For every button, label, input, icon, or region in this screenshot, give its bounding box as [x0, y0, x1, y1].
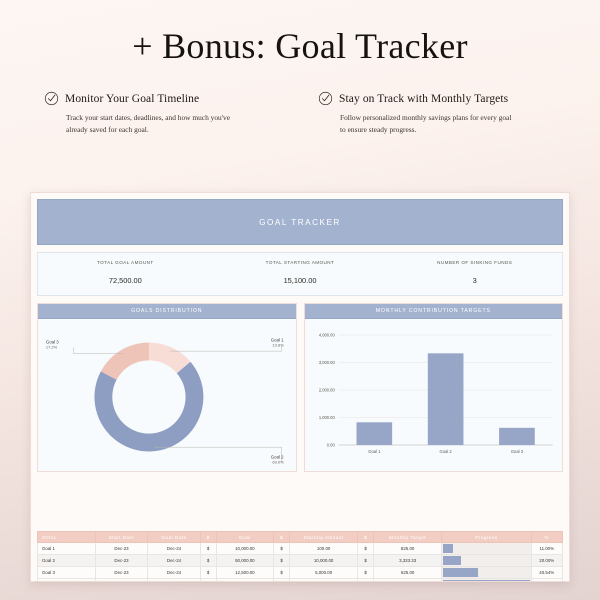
col-currency-1[interactable]: $	[200, 532, 216, 543]
donut-leader-line	[154, 447, 281, 462]
progress-cell	[442, 555, 531, 567]
goal-date: Dec-24	[148, 567, 201, 579]
col-percent[interactable]: %	[531, 532, 563, 543]
goals-distribution-chart: GOALS DISTRIBUTION Goal 113.8%Goal 269.0…	[37, 303, 297, 472]
total-goal-amount	[216, 579, 274, 583]
total-monthly-target	[374, 579, 442, 583]
chart-title: MONTHLY CONTRIBUTION TARGETS	[305, 304, 563, 319]
bar-goal-2[interactable]	[427, 353, 463, 445]
start-date: Dec-23	[95, 555, 148, 567]
y-axis-tick-label: 2,000.00	[318, 388, 335, 393]
col-monthly-target[interactable]: Monthly Target	[374, 532, 442, 543]
donut-label-percent: 17.2%	[46, 344, 58, 349]
check-circle-icon	[318, 91, 333, 106]
bar-chart-y-axis-ticks: 0.001,000.002,000.003,000.004,000.00	[318, 333, 335, 448]
x-axis-tick-label: Goal 2	[439, 449, 452, 454]
goal-name: Goal 2	[38, 555, 96, 567]
y-axis-tick-label: 3,000.00	[318, 360, 335, 365]
start-date: Dec-23	[95, 543, 148, 555]
feature-item: Monitor Your Goal Timeline Track your st…	[44, 91, 282, 136]
total-currency-2: $	[274, 579, 290, 583]
col-currency-2[interactable]: $	[274, 532, 290, 543]
total-percent: 100%	[531, 579, 563, 583]
goal-tracker-sheet: GOAL TRACKER TOTAL GOAL AMOUNT 72,500.00…	[30, 192, 570, 582]
progress-track	[443, 568, 529, 577]
currency-2: $	[274, 543, 290, 555]
col-starting-amount[interactable]: Starting Amount	[290, 532, 358, 543]
total-goal-date	[148, 579, 201, 583]
bar-chart-body: 0.001,000.002,000.003,000.004,000.00 Goa…	[305, 319, 563, 471]
progress-track	[443, 544, 529, 553]
col-goal-amount[interactable]: Goal	[216, 532, 274, 543]
currency-3: $	[358, 567, 374, 579]
table-row[interactable]: Goal 3Dec-23Dec-24$12,500.00$5,000.00$62…	[38, 567, 563, 579]
sheet-title-banner: GOAL TRACKER	[37, 199, 563, 245]
progress-track	[443, 556, 529, 565]
donut-label-percent: 69.0%	[272, 459, 284, 464]
currency-3: $	[358, 543, 374, 555]
starting-amount: 100.00	[290, 543, 358, 555]
bar-goal-3[interactable]	[499, 428, 535, 445]
currency-2: $	[274, 567, 290, 579]
feature-heading: Stay on Track with Monthly Targets	[318, 91, 556, 106]
monthly-contribution-chart: MONTHLY CONTRIBUTION TARGETS 0.001,000.0…	[304, 303, 564, 472]
percent-value: 11.00%	[531, 543, 563, 555]
summary-total-goal-amount: TOTAL GOAL AMOUNT 72,500.00	[38, 253, 213, 295]
table-row[interactable]: Goal 1Dec-23Dec-24$10,000.00$100.00$825.…	[38, 543, 563, 555]
donut-chart-body: Goal 113.8%Goal 269.0%Goal 317.2%	[38, 319, 296, 471]
bar-chart-bars	[356, 353, 534, 445]
currency-2: $	[274, 555, 290, 567]
summary-label: TOTAL GOAL AMOUNT	[38, 260, 213, 265]
summary-number-of-sinking-funds: NUMBER OF SINKING FUNDS 3	[387, 253, 562, 295]
monthly-target: 3,333.33	[374, 555, 442, 567]
table-row[interactable]: Goal 2Dec-23Dec-24$50,000.00$10,000.00$3…	[38, 555, 563, 567]
feature-list: Monitor Your Goal Timeline Track your st…	[0, 67, 600, 136]
percent-value: 40.54%	[531, 567, 563, 579]
progress-cell	[442, 567, 531, 579]
feature-title: Stay on Track with Monthly Targets	[339, 93, 508, 105]
y-axis-tick-label: 1,000.00	[318, 415, 335, 420]
col-goal[interactable]: GOAL	[38, 532, 96, 543]
col-progress[interactable]: Progress	[442, 532, 531, 543]
total-goal	[38, 579, 96, 583]
feature-item: Stay on Track with Monthly Targets Follo…	[318, 91, 556, 136]
starting-amount: 5,000.00	[290, 567, 358, 579]
donut-leader-line	[74, 347, 123, 353]
total-currency-3: $	[358, 579, 374, 583]
monthly-target: 825.00	[374, 543, 442, 555]
currency-1: $	[200, 567, 216, 579]
goal-amount: 10,000.00	[216, 543, 274, 555]
monthly-target: 625.00	[374, 567, 442, 579]
feature-title: Monitor Your Goal Timeline	[65, 93, 199, 105]
summary-strip: TOTAL GOAL AMOUNT 72,500.00 TOTAL STARTI…	[37, 252, 563, 296]
x-axis-tick-label: Goal 3	[510, 449, 523, 454]
total-starting-amount	[290, 579, 358, 583]
progress-fill	[443, 580, 529, 582]
donut-leader-line	[170, 345, 281, 351]
goal-name: Goal 3	[38, 567, 96, 579]
donut-label-percent: 13.8%	[272, 342, 284, 347]
summary-value: 15,100.00	[213, 276, 388, 285]
feature-description: Follow personalized monthly savings plan…	[318, 106, 518, 136]
summary-value: 72,500.00	[38, 276, 213, 285]
donut-slice-goal-3[interactable]	[101, 343, 149, 380]
goal-name: Goal 1	[38, 543, 96, 555]
feature-heading: Monitor Your Goal Timeline	[44, 91, 282, 106]
y-axis-tick-label: 4,000.00	[318, 333, 335, 338]
table-total-row: $ $ $ 100%	[38, 579, 563, 583]
starting-amount: 10,000.00	[290, 555, 358, 567]
summary-label: TOTAL STARTING AMOUNT	[213, 260, 388, 265]
feature-description: Track your start dates, deadlines, and h…	[44, 106, 244, 136]
charts-row: GOALS DISTRIBUTION Goal 113.8%Goal 269.0…	[37, 303, 563, 472]
progress-fill	[443, 568, 478, 577]
currency-3: $	[358, 555, 374, 567]
progress-track	[443, 580, 529, 582]
start-date: Dec-23	[95, 567, 148, 579]
col-currency-3[interactable]: $	[358, 532, 374, 543]
progress-fill	[443, 544, 452, 553]
percent-value: 20.00%	[531, 555, 563, 567]
y-axis-tick-label: 0.00	[326, 443, 335, 448]
x-axis-tick-label: Goal 1	[368, 449, 381, 454]
col-goal-date[interactable]: Goal Date	[148, 532, 201, 543]
bar-goal-1[interactable]	[356, 422, 392, 445]
currency-1: $	[200, 555, 216, 567]
progress-fill	[443, 556, 460, 565]
goals-table: GOAL Start Date Goal Date $ Goal $ Start…	[37, 531, 563, 582]
currency-1: $	[200, 543, 216, 555]
goal-date: Dec-24	[148, 555, 201, 567]
page-title: + Bonus: Goal Tracker	[0, 0, 600, 67]
summary-label: NUMBER OF SINKING FUNDS	[387, 260, 562, 265]
check-circle-icon	[44, 91, 59, 106]
table-body: Goal 1Dec-23Dec-24$10,000.00$100.00$825.…	[38, 543, 563, 579]
donut-slices	[94, 343, 203, 452]
total-currency-1: $	[200, 579, 216, 583]
total-start-date	[95, 579, 148, 583]
total-progress	[442, 579, 531, 583]
table-header-row: GOAL Start Date Goal Date $ Goal $ Start…	[38, 532, 563, 543]
bar-chart-x-axis-ticks: Goal 1Goal 2Goal 3	[368, 449, 523, 454]
donut-chart-svg: Goal 113.8%Goal 269.0%Goal 317.2%	[38, 319, 296, 471]
summary-total-starting-amount: TOTAL STARTING AMOUNT 15,100.00	[213, 253, 388, 295]
goal-amount: 12,500.00	[216, 567, 274, 579]
bar-chart-svg: 0.001,000.002,000.003,000.004,000.00 Goa…	[305, 319, 563, 471]
goals-table-wrap: GOAL Start Date Goal Date $ Goal $ Start…	[37, 531, 563, 582]
goal-date: Dec-24	[148, 543, 201, 555]
progress-cell	[442, 543, 531, 555]
summary-value: 3	[387, 276, 562, 285]
chart-title: GOALS DISTRIBUTION	[38, 304, 296, 319]
goal-amount: 50,000.00	[216, 555, 274, 567]
col-start-date[interactable]: Start Date	[95, 532, 148, 543]
